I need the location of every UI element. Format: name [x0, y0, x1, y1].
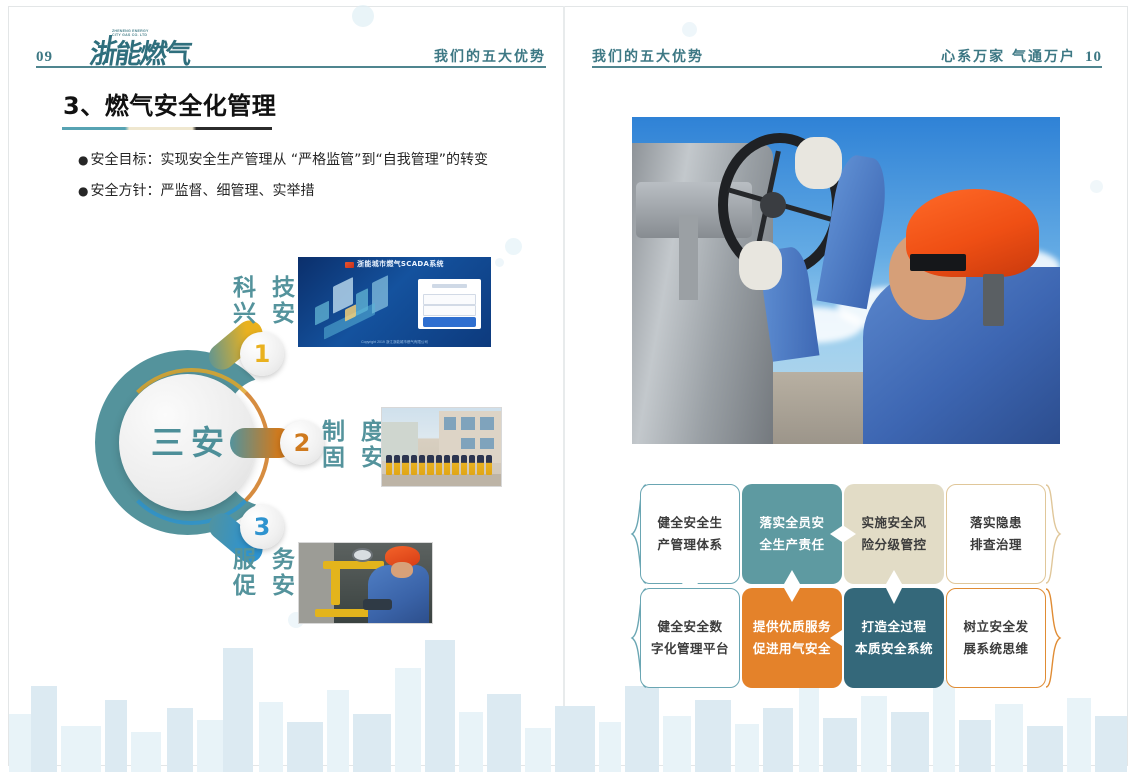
fleet-ground — [382, 474, 501, 486]
triad-node-3-number: 3 — [254, 515, 271, 539]
triad-node-2[interactable]: 2 — [280, 421, 324, 465]
left-page-header: 09 ZHENENG ENERGY CITY GAS CO. LTD 浙能燃气 … — [36, 34, 546, 68]
worker-glove-upper — [795, 137, 842, 189]
flow-box-bottom-1-line2: 促进用气安全 — [753, 638, 831, 660]
logo-english-text: ZHENENG ENERGY CITY GAS CO. LTD — [112, 29, 176, 38]
triad-node-2-number: 2 — [294, 431, 311, 455]
slide-canvas: 09 ZHENENG ENERGY CITY GAS CO. LTD 浙能燃气 … — [0, 0, 1136, 779]
worker-glove-lower — [739, 241, 782, 290]
flow-brace-bottom-right — [1044, 588, 1062, 688]
flow-box-bottom-2-line2: 本质安全系统 — [855, 638, 933, 660]
triad-center-label: 三安 — [144, 426, 231, 459]
flow-box-bottom-1[interactable]: 提供优质服务 促进用气安全 — [742, 588, 842, 688]
page-number-right: 10 — [1085, 50, 1102, 65]
technician-photo[interactable] — [298, 542, 433, 624]
flow-box-bottom-2-line1: 打造全过程 — [855, 616, 933, 638]
decorative-bubble — [505, 238, 522, 255]
triad-branch-2-label: 制 度 固 安 — [322, 420, 388, 472]
flow-box-top-3-line1: 落实隐患 — [970, 512, 1022, 534]
scada-username-field[interactable] — [423, 294, 477, 305]
bullet-item-1: ●安全方针：严监督、细管理、实举措 — [78, 181, 314, 202]
header-slogan: 心系万家 气通万户 — [941, 50, 1076, 64]
main-valve-photo[interactable] — [632, 117, 1060, 444]
page-number-left: 09 — [36, 50, 53, 65]
decorative-bubble — [352, 5, 374, 27]
flow-box-top-1[interactable]: 落实全员安 全生产责任 — [742, 484, 842, 584]
header-title-left: 我们的五大优势 — [434, 50, 546, 64]
flow-box-bottom-3-line1: 树立安全发 — [963, 616, 1028, 638]
triad-branch-3-line2: 促 安 — [233, 574, 299, 600]
scada-isometric-illustration — [310, 277, 399, 333]
flow-box-bottom-3[interactable]: 树立安全发 展系统思维 — [946, 588, 1046, 688]
page-gutter — [563, 6, 565, 766]
decorative-bubble — [1090, 180, 1103, 193]
scada-copyright: Copyright 2019 浙江浙能城市燃气有限公司 — [298, 341, 491, 345]
flow-box-top-1-line2: 全生产责任 — [759, 534, 824, 556]
scada-login-button[interactable] — [423, 317, 477, 327]
scada-logo-icon — [345, 262, 354, 268]
scada-titlebar: 浙能城市燃气SCADA系统 — [298, 257, 491, 272]
triad-branch-1-line1: 科 技 — [233, 276, 299, 302]
header-title-right: 我们的五大优势 — [592, 50, 704, 64]
bullet-text: 安全目标：实现安全生产管理从 “严格监管”到“自我管理”的转变 — [90, 152, 487, 168]
service-fleet-photo[interactable] — [381, 407, 502, 487]
flow-box-top-3-line2: 排查治理 — [970, 534, 1022, 556]
flow-box-top-3[interactable]: 落实隐患 排查治理 — [946, 484, 1046, 584]
bullet-text: 安全方针：严监督、细管理、实举措 — [90, 183, 314, 199]
section-title-underline — [62, 127, 272, 130]
triad-branch-3-line1: 服 务 — [233, 548, 299, 574]
triad-branch-2-line1: 制 度 — [322, 420, 388, 446]
bullet-marker: ● — [78, 153, 88, 167]
triad-branch-1-line2: 兴 安 — [233, 302, 299, 328]
safety-flowchart: 健全安全生 产管理体系 落实全员安 全生产责任 实施安全风 险分级管控 落实隐患… — [640, 484, 1060, 688]
triad-node-1-number: 1 — [254, 342, 271, 366]
flow-box-top-0-line1: 健全安全生 — [657, 512, 722, 534]
triad-node-3[interactable]: 3 — [240, 505, 284, 549]
bullet-item-0: ●安全目标：实现安全生产管理从 “严格监管”到“自我管理”的转变 — [78, 150, 488, 171]
right-page-header: 我们的五大优势 心系万家 气通万户 10 — [592, 34, 1102, 68]
flow-box-bottom-1-line1: 提供优质服务 — [753, 616, 831, 638]
triad-branch-2-line2: 固 安 — [322, 446, 388, 472]
flow-box-bottom-0[interactable]: 健全安全数 字化管理平台 — [640, 588, 740, 688]
flow-box-top-2[interactable]: 实施安全风 险分级管控 — [844, 484, 944, 584]
triad-branch-3-label: 服 务 促 安 — [233, 548, 299, 600]
flow-box-bottom-0-line2: 字化管理平台 — [651, 638, 729, 660]
bullet-marker: ● — [78, 184, 88, 198]
flow-box-top-0-line2: 产管理体系 — [657, 534, 722, 556]
flow-box-top-2-line1: 实施安全风 — [861, 512, 926, 534]
valve-stem — [679, 215, 698, 300]
flow-box-bottom-2[interactable]: 打造全过程 本质安全系统 — [844, 588, 944, 688]
logo-chinese-text: 浙能燃气 — [88, 41, 192, 68]
scada-thumbnail[interactable]: 浙能城市燃气SCADA系统 Copyright 2019 浙江浙能城市燃气有限公… — [298, 257, 491, 347]
company-logo: ZHENENG ENERGY CITY GAS CO. LTD 浙能燃气 — [90, 31, 182, 67]
flow-box-bottom-0-line1: 健全安全数 — [651, 616, 729, 638]
triad-branch-1-label: 科 技 兴 安 — [233, 276, 299, 328]
flow-box-top-1-line1: 落实全员安 — [759, 512, 824, 534]
section-title: 3、燃气安全化管理 — [63, 92, 276, 121]
flow-box-top-2-line2: 险分级管控 — [861, 534, 926, 556]
scada-title: 浙能城市燃气SCADA系统 — [357, 261, 444, 268]
scada-login-card[interactable] — [418, 279, 482, 329]
flow-box-top-0[interactable]: 健全安全生 产管理体系 — [640, 484, 740, 584]
flow-box-bottom-3-line2: 展系统思维 — [963, 638, 1028, 660]
triad-node-1[interactable]: 1 — [240, 332, 284, 376]
flow-brace-top-right — [1044, 484, 1062, 584]
header-rule-right — [592, 66, 1102, 68]
decorative-bubble — [495, 258, 504, 267]
scada-password-field[interactable] — [423, 305, 477, 316]
